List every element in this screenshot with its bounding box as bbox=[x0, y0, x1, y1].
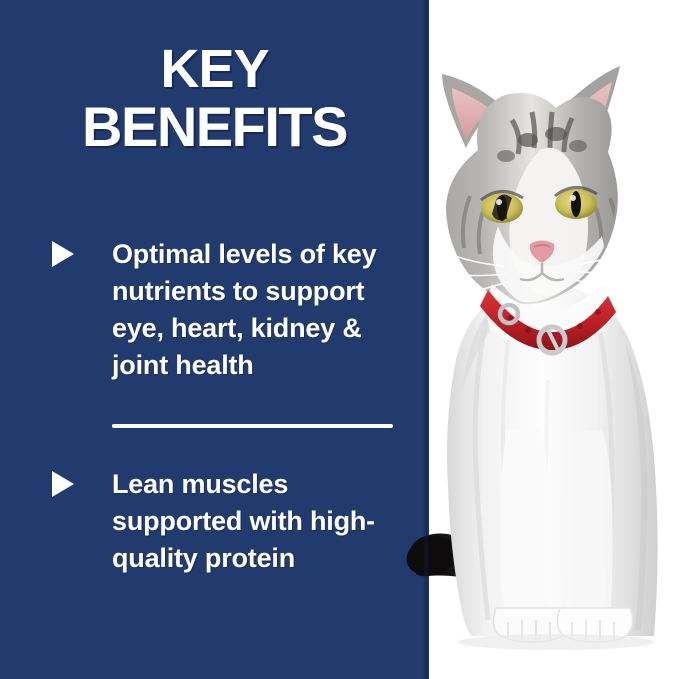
page-title: KEY BENEFITS bbox=[12, 40, 417, 156]
title-line-2: BENEFITS bbox=[12, 98, 417, 156]
benefit-text-2: Lean muscles supported with high-quality… bbox=[112, 466, 402, 577]
title-line-1: KEY bbox=[12, 40, 417, 98]
section-divider bbox=[112, 424, 393, 428]
benefit-item-2: Lean muscles supported with high-quality… bbox=[52, 466, 402, 577]
benefit-text-1: Optimal levels of key nutrients to suppo… bbox=[112, 236, 402, 384]
triangle-right-icon bbox=[52, 471, 74, 497]
triangle-right-icon bbox=[52, 241, 74, 267]
product-benefits-card: KEY BENEFITS Optimal levels of key nutri… bbox=[0, 0, 679, 679]
benefit-item-1: Optimal levels of key nutrients to suppo… bbox=[52, 236, 402, 384]
photo-background bbox=[429, 0, 679, 679]
